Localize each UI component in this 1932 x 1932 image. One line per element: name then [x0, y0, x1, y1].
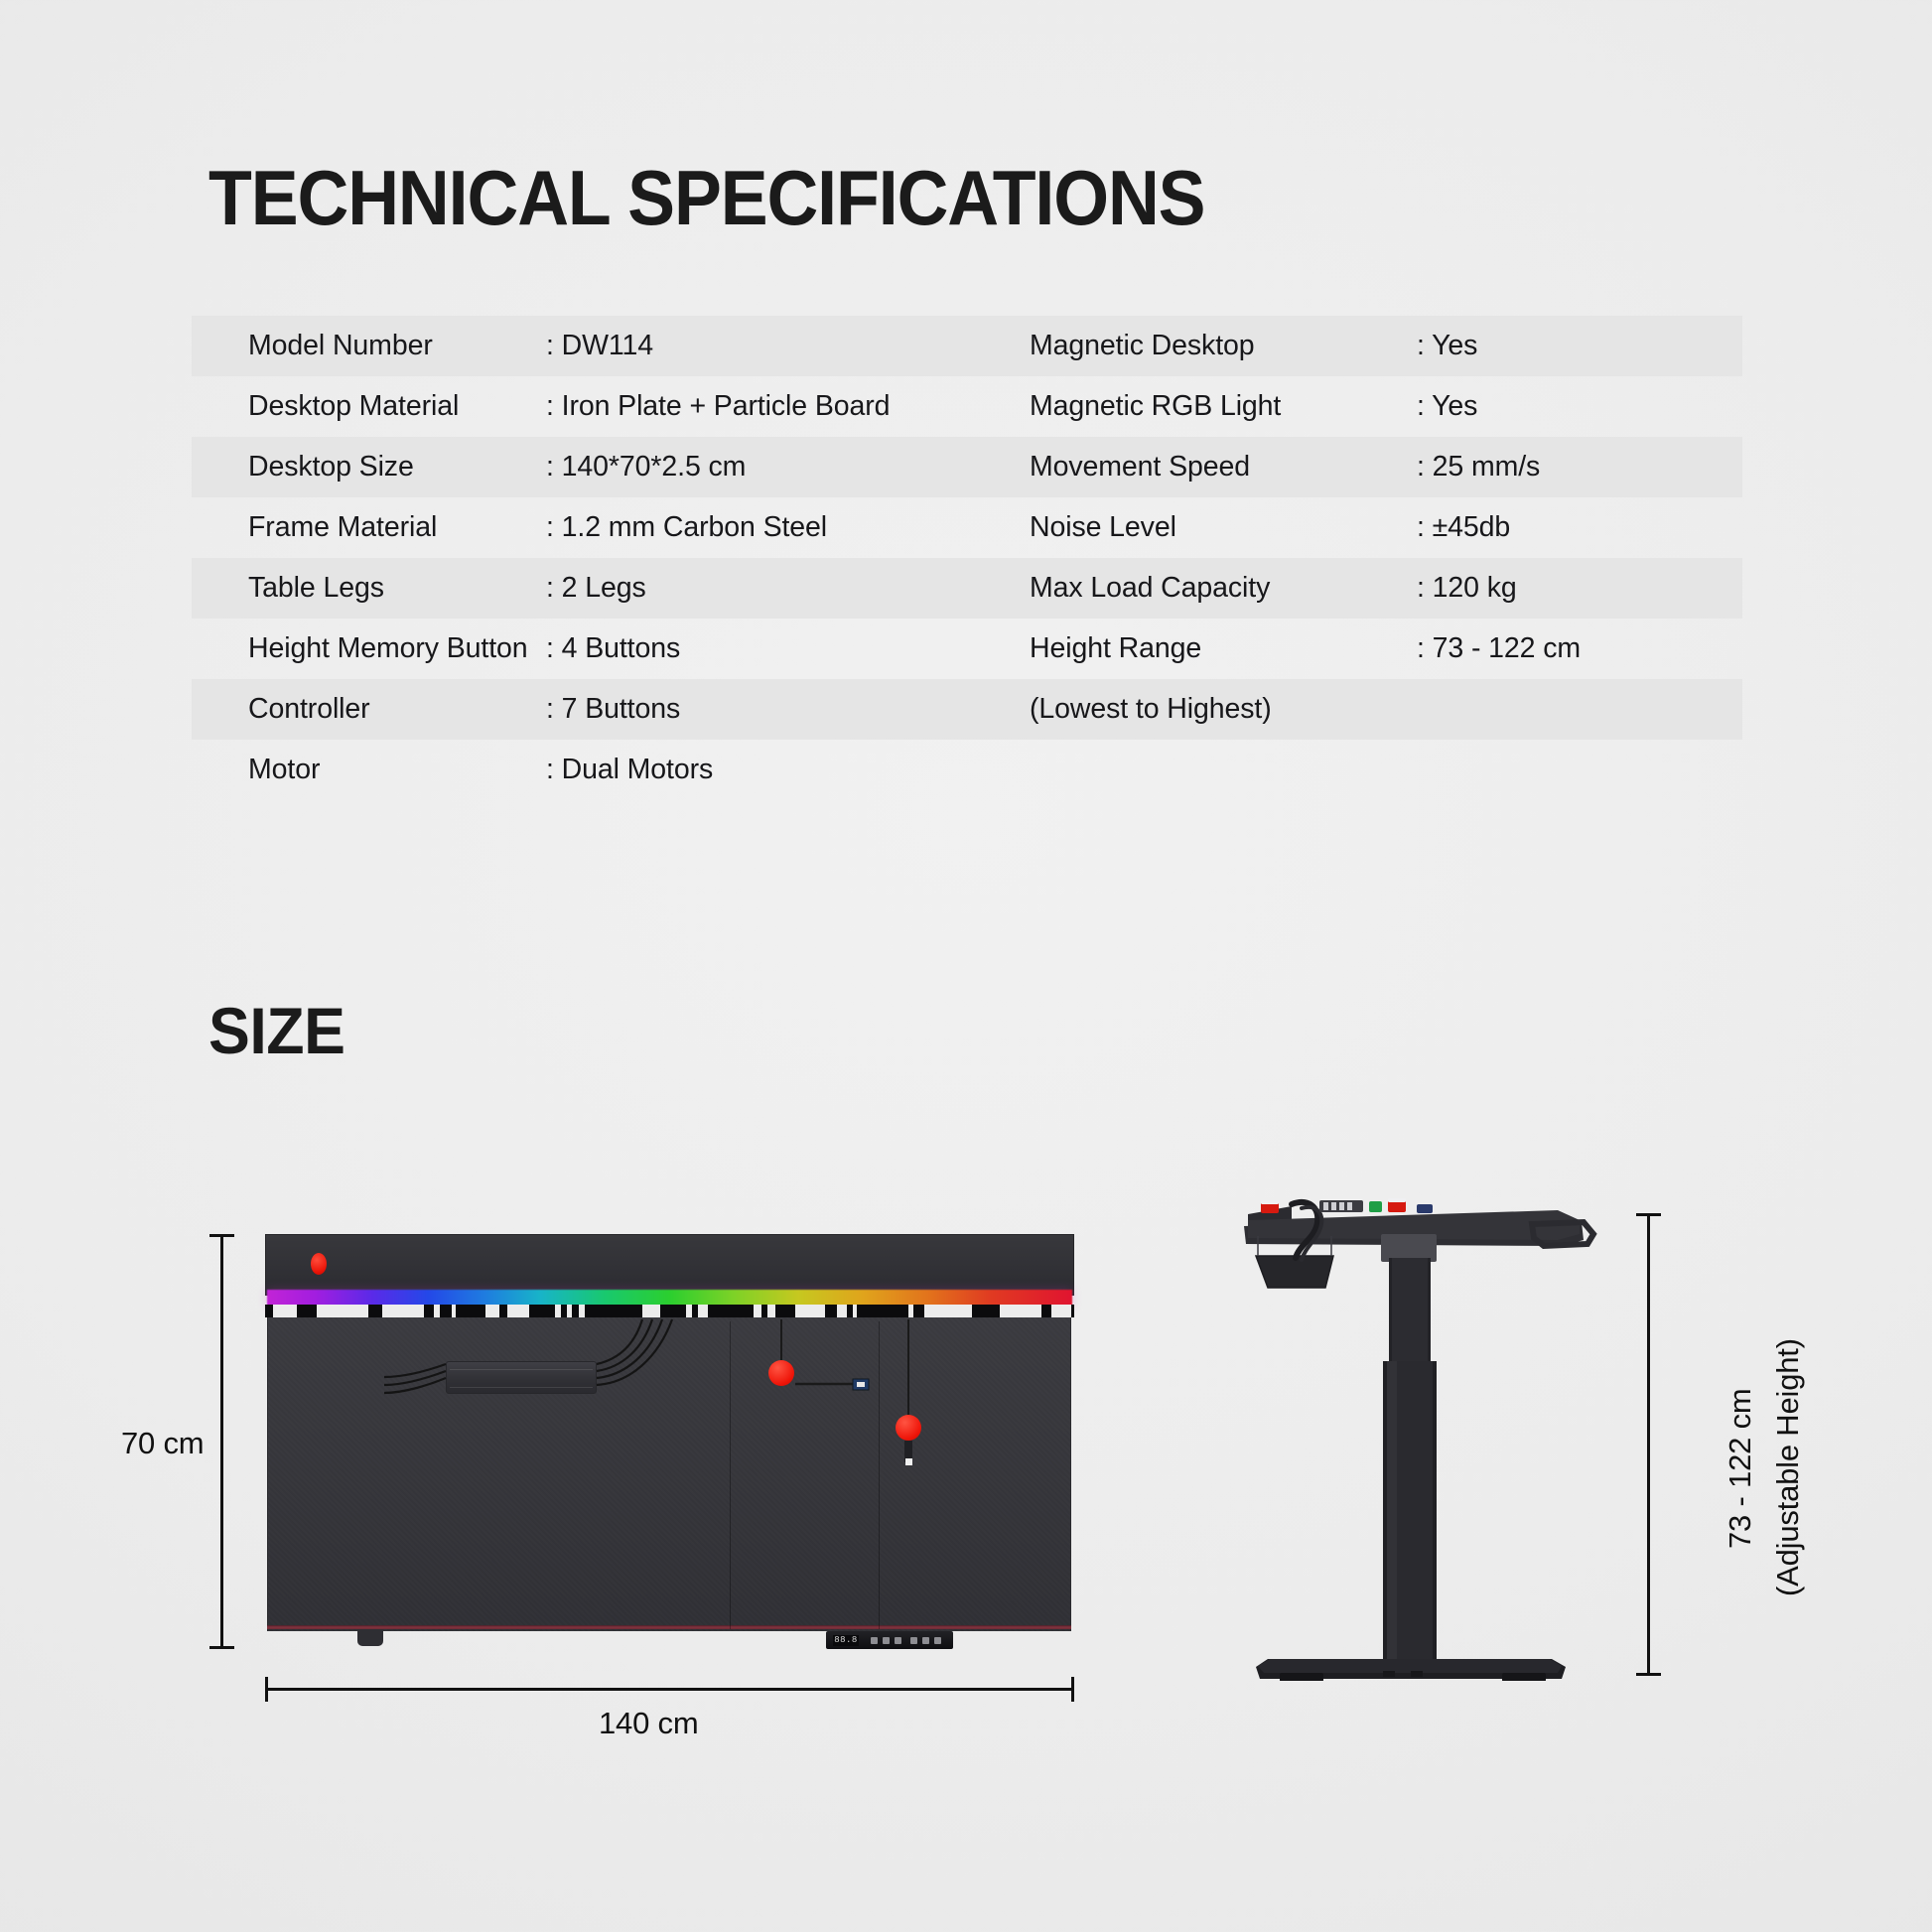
spec-value: : 25 mm/s — [1417, 451, 1540, 483]
table-row: Desktop Size: 140*70*2.5 cmMovement Spee… — [192, 437, 1742, 497]
spec-value: : 120 kg — [1417, 572, 1517, 605]
desk-front-view: 88.8 — [265, 1234, 1074, 1649]
width-dimension-label: 140 cm — [599, 1706, 698, 1741]
spec-value: : Yes — [1417, 390, 1477, 423]
size-section-title: SIZE — [208, 998, 345, 1063]
desk-seam-line — [730, 1321, 731, 1629]
spec-label: Height Memory Button — [248, 632, 546, 665]
spec-value: : DW114 — [546, 330, 653, 362]
desk-edge-top — [267, 1317, 1071, 1321]
spec-value: : 73 - 122 cm — [1417, 632, 1581, 665]
height-dimension-label: 73 - 122 cm — [1723, 1389, 1758, 1550]
spec-label: Magnetic Desktop — [1030, 330, 1417, 362]
desk-seam-line — [879, 1321, 880, 1629]
spec-value: : 140*70*2.5 cm — [546, 451, 746, 483]
spec-label: Table Legs — [248, 572, 546, 605]
spec-value: : 7 Buttons — [546, 693, 680, 726]
depth-dimension-line — [220, 1234, 223, 1649]
spec-cell-right: Noise Level: ±45db — [1018, 497, 1742, 558]
desk-leg-front — [357, 1629, 383, 1646]
spec-cell-left: Controller: 7 Buttons — [192, 679, 1018, 740]
spec-value: : 1.2 mm Carbon Steel — [546, 511, 827, 544]
spec-label: Desktop Material — [248, 390, 546, 423]
spec-cell-right — [1018, 740, 1742, 800]
spec-cell-left: Table Legs: 2 Legs — [192, 558, 1018, 619]
table-row: Desktop Material: Iron Plate + Particle … — [192, 376, 1742, 437]
spec-cell-right: Height Range: 73 - 122 cm — [1018, 619, 1742, 679]
rgb-light-strip — [267, 1290, 1072, 1307]
spec-cell-left: Desktop Material: Iron Plate + Particle … — [192, 376, 1018, 437]
spec-label: Magnetic RGB Light — [1030, 390, 1417, 423]
spec-cell-left: Height Memory Button: 4 Buttons — [192, 619, 1018, 679]
height-dimension-sublabel: (Adjustable Height) — [1770, 1338, 1806, 1596]
spec-label: Movement Speed — [1030, 451, 1417, 483]
desk-edge-bottom — [267, 1625, 1071, 1629]
spec-value: : Yes — [1417, 330, 1477, 362]
spec-value: : Dual Motors — [546, 754, 713, 786]
spec-cell-right: (Lowest to Highest) — [1018, 679, 1742, 740]
desk-controller-panel — [826, 1631, 953, 1649]
desk-back-panel — [265, 1234, 1074, 1296]
desk-surface — [267, 1317, 1071, 1631]
spec-label: Noise Level — [1030, 511, 1417, 544]
controller-display: 88.8 — [833, 1635, 859, 1646]
width-dimension-line — [265, 1688, 1074, 1691]
spec-cell-right: Max Load Capacity: 120 kg — [1018, 558, 1742, 619]
spec-cell-left: Frame Material: 1.2 mm Carbon Steel — [192, 497, 1018, 558]
spec-value: : Iron Plate + Particle Board — [546, 390, 890, 423]
spec-cell-left: Desktop Size: 140*70*2.5 cm — [192, 437, 1018, 497]
spec-label: Motor — [248, 754, 546, 786]
spec-label: Height Range — [1030, 632, 1417, 665]
cable-management-tray — [446, 1361, 597, 1394]
spec-label: Model Number — [248, 330, 546, 362]
size-diagram: 88.8 70 cm 140 cm — [0, 0, 1932, 1932]
spec-value: : 4 Buttons — [546, 632, 680, 665]
spec-cell-left: Motor: Dual Motors — [192, 740, 1018, 800]
spec-value: : 2 Legs — [546, 572, 646, 605]
table-row: Motor: Dual Motors — [192, 740, 1742, 800]
depth-dimension-label: 70 cm — [121, 1426, 204, 1461]
memory-button-indicator — [311, 1253, 327, 1275]
annotation-dot-usb — [768, 1360, 794, 1386]
table-row: Table Legs: 2 LegsMax Load Capacity: 120… — [192, 558, 1742, 619]
frame-side-view: WORKSTATION — [1234, 1184, 1601, 1681]
cable-slot-bar — [265, 1305, 1074, 1317]
spec-label: Desktop Size — [248, 451, 546, 483]
table-row: Model Number: DW114Magnetic Desktop: Yes — [192, 316, 1742, 376]
height-dimension-line — [1647, 1213, 1650, 1676]
spec-label: Controller — [248, 693, 546, 726]
spec-cell-right: Movement Speed: 25 mm/s — [1018, 437, 1742, 497]
cable-bundle-icon — [265, 1234, 1074, 1649]
table-row: Controller: 7 Buttons(Lowest to Highest) — [192, 679, 1742, 740]
table-row: Height Memory Button: 4 ButtonsHeight Ra… — [192, 619, 1742, 679]
spec-cell-left: Model Number: DW114 — [192, 316, 1018, 376]
spec-value: : ±45db — [1417, 511, 1510, 544]
spec-label: (Lowest to Highest) — [1030, 693, 1417, 726]
spec-label: Frame Material — [248, 511, 546, 544]
page-title: TECHNICAL SPECIFICATIONS — [208, 159, 1204, 236]
spec-cell-right: Magnetic Desktop: Yes — [1018, 316, 1742, 376]
spec-cell-right: Magnetic RGB Light: Yes — [1018, 376, 1742, 437]
specifications-table: Model Number: DW114Magnetic Desktop: Yes… — [192, 316, 1742, 800]
table-row: Frame Material: 1.2 mm Carbon SteelNoise… — [192, 497, 1742, 558]
annotation-dot-cable — [896, 1415, 921, 1441]
spec-label: Max Load Capacity — [1030, 572, 1417, 605]
